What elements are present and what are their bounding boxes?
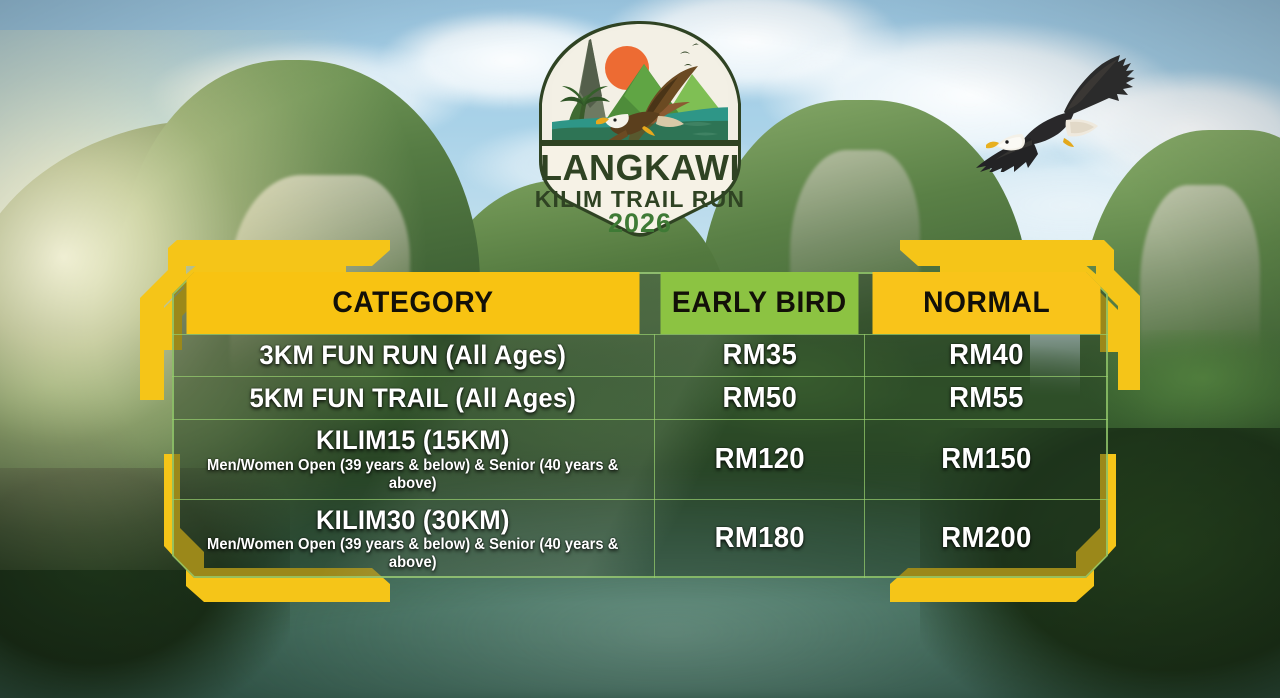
cell-category: 3KM FUN RUN (All Ages): [172, 334, 654, 377]
price-early-bird: RM180: [665, 522, 853, 555]
cell-category: KILIM30 (30KM) Men/Women Open (39 years …: [172, 499, 654, 578]
category-name: 5KM FUN TRAIL (All Ages): [190, 383, 636, 413]
pricing-table-body: CATEGORY EARLY BIRD NORMAL 3KM FUN RUN (…: [172, 272, 1108, 578]
column-header-normal: NORMAL: [872, 272, 1101, 334]
column-header-early-bird: EARLY BIRD: [660, 272, 858, 334]
category-name: KILIM30 (30KM): [190, 505, 636, 535]
cell-normal: RM55: [865, 377, 1108, 420]
cell-normal: RM40: [865, 334, 1108, 377]
cell-normal: RM200: [865, 499, 1108, 578]
poster-canvas: LANGKAWI KILIM TRAIL RUN 2026: [0, 0, 1280, 698]
logo-title: LANGKAWI: [540, 147, 740, 188]
price-normal: RM200: [877, 522, 1096, 555]
category-subtext: Men/Women Open (39 years & below) & Seni…: [190, 457, 636, 494]
table-row: 5KM FUN TRAIL (All Ages) RM50 RM55: [172, 377, 1108, 420]
category-name: KILIM15 (15KM): [190, 425, 636, 455]
event-logo-badge: LANGKAWI KILIM TRAIL RUN 2026: [532, 20, 748, 242]
price-early-bird: RM35: [665, 339, 853, 372]
table-row: KILIM30 (30KM) Men/Women Open (39 years …: [172, 499, 1108, 578]
price-normal: RM40: [877, 339, 1096, 372]
cell-early-bird: RM35: [654, 334, 865, 377]
cell-category: 5KM FUN TRAIL (All Ages): [172, 377, 654, 420]
cell-early-bird: RM180: [654, 499, 865, 578]
pricing-table-frame: CATEGORY EARLY BIRD NORMAL 3KM FUN RUN (…: [140, 240, 1140, 610]
cell-early-bird: RM50: [654, 377, 865, 420]
table-row: KILIM15 (15KM) Men/Women Open (39 years …: [172, 420, 1108, 499]
table-row: 3KM FUN RUN (All Ages) RM35 RM40: [172, 334, 1108, 377]
pricing-table: CATEGORY EARLY BIRD NORMAL 3KM FUN RUN (…: [172, 272, 1108, 578]
soaring-eagle-icon: [968, 42, 1143, 172]
price-normal: RM55: [877, 382, 1096, 415]
price-normal: RM150: [877, 443, 1096, 476]
cell-normal: RM150: [865, 420, 1108, 499]
cell-category: KILIM15 (15KM) Men/Women Open (39 years …: [172, 420, 654, 499]
category-name: 3KM FUN RUN (All Ages): [190, 340, 636, 370]
price-early-bird: RM120: [665, 443, 853, 476]
cell-early-bird: RM120: [654, 420, 865, 499]
table-header-row: CATEGORY EARLY BIRD NORMAL: [172, 272, 1108, 334]
category-subtext: Men/Women Open (39 years & below) & Seni…: [190, 536, 636, 573]
column-header-category: CATEGORY: [186, 272, 639, 334]
price-early-bird: RM50: [665, 382, 853, 415]
logo-year: 2026: [608, 208, 672, 238]
